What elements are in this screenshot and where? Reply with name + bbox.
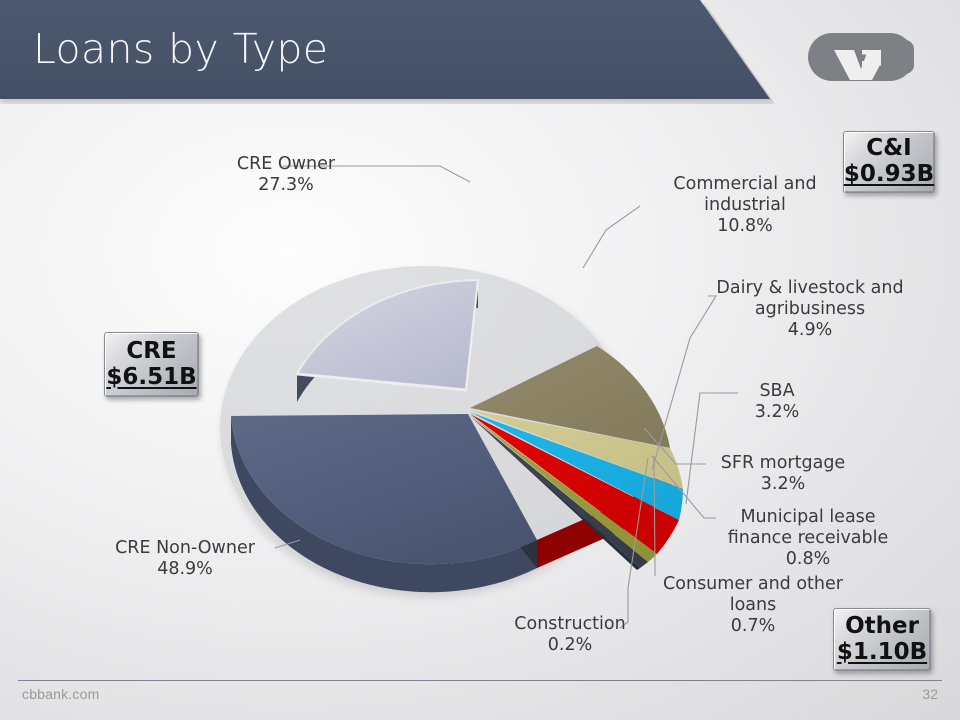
pie-label-muni-line1: Municipal lease bbox=[740, 507, 875, 527]
footer-page-number: 32 bbox=[922, 686, 938, 702]
callout-other[interactable]: Other $1.10B bbox=[833, 608, 931, 671]
pie-label-construction-text: Construction bbox=[514, 614, 625, 634]
callout-other-value: $1.10B bbox=[837, 639, 927, 666]
pie-label-cre-non-owner-pct: 48.9% bbox=[85, 559, 285, 580]
page-title: Loans by Type bbox=[33, 25, 328, 73]
pie-label-municipal-lease: Municipal lease finance receivable 0.8% bbox=[713, 507, 903, 570]
pie-label-dairy-line2: agribusiness bbox=[713, 299, 907, 320]
pie-label-sba: SBA 3.2% bbox=[715, 381, 839, 423]
pie-label-commercial-industrial: Commercial and industrial 10.8% bbox=[645, 174, 845, 237]
pie-label-consumer-line2: loans bbox=[657, 595, 849, 616]
pie-label-cre-non-owner: CRE Non-Owner 48.9% bbox=[85, 538, 285, 580]
pie-label-cre-owner-text: CRE Owner bbox=[237, 154, 335, 174]
pie-label-sfr-text: SFR mortgage bbox=[721, 453, 845, 473]
pie-label-muni-pct: 0.8% bbox=[713, 549, 903, 570]
callout-ci[interactable]: C&I $0.93B bbox=[843, 131, 935, 193]
pie-label-dairy-livestock: Dairy & livestock and agribusiness 4.9% bbox=[713, 278, 907, 341]
pie-label-muni-line2: finance receivable bbox=[713, 528, 903, 549]
pie-label-sfr-pct: 3.2% bbox=[700, 474, 866, 495]
callout-ci-value: $0.93B bbox=[844, 161, 934, 188]
pie-label-ci-pct: 10.8% bbox=[645, 216, 845, 237]
pie-label-construction-pct: 0.2% bbox=[498, 635, 642, 656]
pie-label-cre-non-owner-text: CRE Non-Owner bbox=[115, 538, 255, 558]
callout-cre-label: CRE bbox=[126, 339, 176, 364]
pie-label-ci-line2: industrial bbox=[645, 195, 845, 216]
pie-label-ci-line1: Commercial and bbox=[673, 174, 816, 194]
callout-ci-label: C&I bbox=[866, 136, 912, 161]
callout-cre-value: $6.51B bbox=[106, 364, 196, 391]
pie-label-dairy-line1: Dairy & livestock and bbox=[716, 278, 903, 298]
callout-cre[interactable]: CRE $6.51B bbox=[104, 332, 199, 397]
pie-label-cre-owner-pct: 27.3% bbox=[196, 175, 376, 196]
callout-other-label: Other bbox=[845, 614, 919, 639]
footer-website: cbbank.com bbox=[22, 686, 99, 702]
footer-divider bbox=[18, 680, 942, 681]
pie-label-consumer-pct: 0.7% bbox=[657, 616, 849, 637]
pie-label-consumer-line1: Consumer and other bbox=[663, 574, 843, 594]
pie-label-sba-pct: 3.2% bbox=[715, 402, 839, 423]
pie-label-dairy-pct: 4.9% bbox=[713, 320, 907, 341]
pie-label-sba-text: SBA bbox=[759, 381, 794, 401]
pie-label-sfr-mortgage: SFR mortgage 3.2% bbox=[700, 453, 866, 495]
cvb-financial-logo bbox=[806, 30, 916, 84]
slide-header: Loans by Type bbox=[0, 0, 960, 108]
pie-label-cre-owner: CRE Owner 27.3% bbox=[196, 154, 376, 196]
pie-label-construction: Construction 0.2% bbox=[498, 614, 642, 656]
pie-label-consumer-other: Consumer and other loans 0.7% bbox=[657, 574, 849, 637]
